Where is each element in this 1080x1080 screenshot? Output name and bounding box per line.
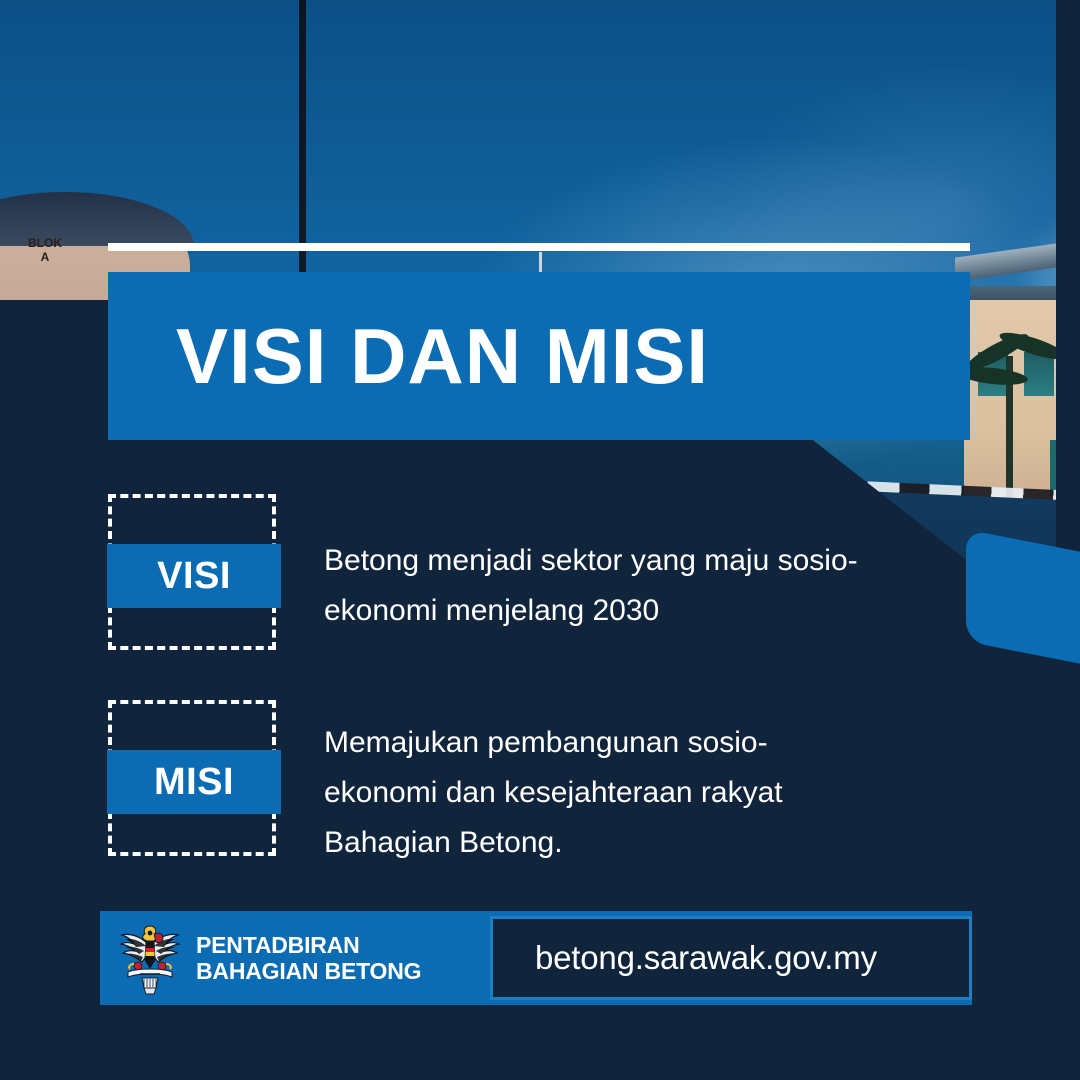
- brand-block: PENTADBIRAN BAHAGIAN BETONG: [100, 920, 490, 996]
- visi-section: VISI Betong menjadi sektor yang maju sos…: [108, 494, 864, 650]
- header-rule: [108, 243, 970, 251]
- poster-canvas: BLOK A: [0, 0, 1080, 1080]
- visi-badge-label: VISI: [157, 557, 231, 595]
- brand-name: PENTADBIRAN BAHAGIAN BETONG: [196, 932, 421, 984]
- footer-bar: PENTADBIRAN BAHAGIAN BETONG betong.saraw…: [100, 911, 972, 1005]
- misi-text: Memajukan pembangunan sosio-ekonomi dan …: [324, 718, 864, 868]
- brand-line-1: PENTADBIRAN: [196, 932, 421, 958]
- visi-badge-band: VISI: [107, 544, 281, 608]
- misi-badge-band: MISI: [107, 750, 281, 814]
- misi-badge: MISI: [108, 700, 276, 856]
- visi-text: Betong menjadi sektor yang maju sosio-ek…: [324, 536, 864, 636]
- page-title: VISI DAN MISI: [108, 317, 709, 395]
- blok-label-line1: BLOK: [20, 236, 70, 250]
- navy-right-edge: [1056, 0, 1080, 1080]
- website-url-box[interactable]: betong.sarawak.gov.my: [490, 916, 972, 1000]
- blok-label-line2: A: [20, 250, 70, 264]
- title-banner: VISI DAN MISI: [108, 272, 970, 440]
- sarawak-coat-of-arms-icon: [118, 920, 182, 996]
- misi-section: MISI Memajukan pembangunan sosio-ekonomi…: [108, 700, 864, 868]
- visi-badge: VISI: [108, 494, 276, 650]
- website-url: betong.sarawak.gov.my: [493, 939, 877, 977]
- misi-badge-label: MISI: [154, 763, 234, 801]
- blok-a-label: BLOK A: [20, 236, 70, 264]
- brand-line-2: BAHAGIAN BETONG: [196, 958, 421, 984]
